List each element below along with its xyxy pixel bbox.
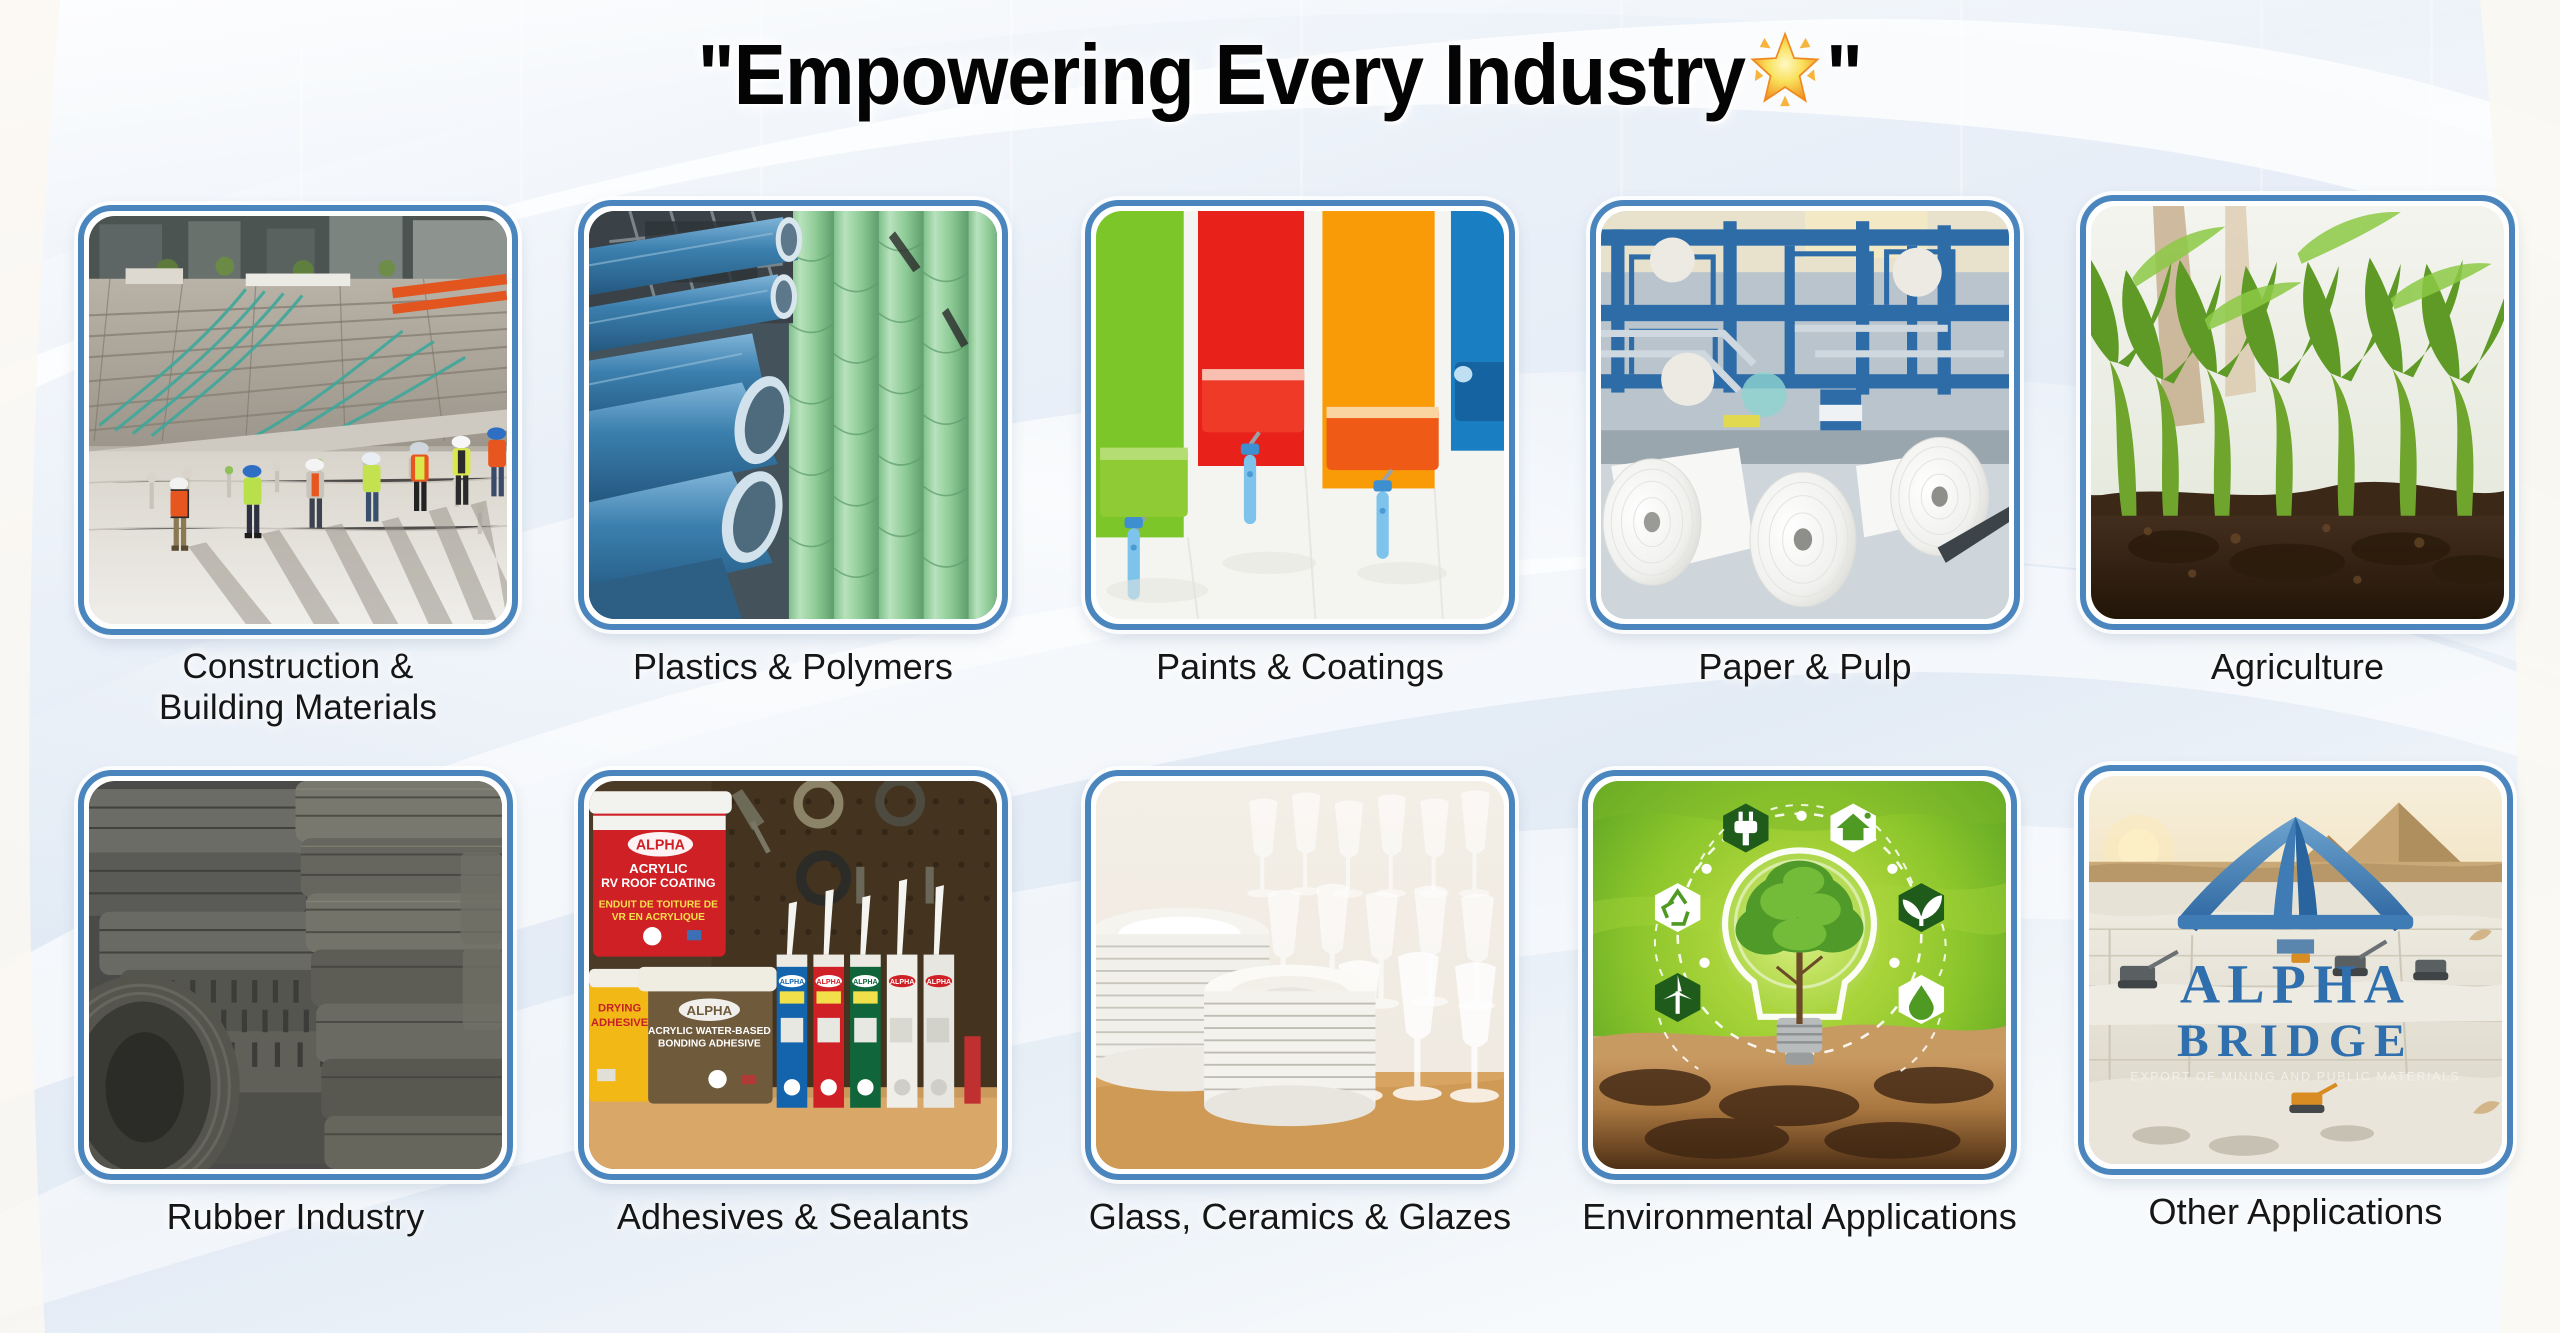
plates-and-wine-glasses-image — [1096, 781, 1504, 1169]
paint-rollers-color-stripes-image — [1096, 211, 1504, 619]
tile-caption-agriculture: Agriculture — [2211, 646, 2384, 688]
tile-frame-paper — [1590, 200, 2020, 630]
svg-text:ALPHA: ALPHA — [890, 978, 915, 986]
svg-text:ACRYLIC WATER-BASED: ACRYLIC WATER-BASED — [648, 1026, 771, 1037]
tile-caption-other: Other Applications — [2149, 1191, 2443, 1233]
tile-frame-paints — [1085, 200, 1515, 630]
tile-caption-paper: Paper & Pulp — [1698, 646, 1911, 688]
alpha-bridge-logo-line1: ALPHA — [2180, 954, 2411, 1015]
tile-rubber[interactable]: Rubber Industry — [78, 770, 513, 1238]
stacked-tires-image — [89, 781, 502, 1169]
glowing-star-icon — [1747, 26, 1824, 131]
tile-paper[interactable]: Paper & Pulp — [1590, 200, 2020, 688]
tile-frame-agriculture — [2080, 195, 2515, 630]
industry-grid: Construction & Building Materials — [0, 0, 2560, 1333]
construction-site-workers-rebar-image — [89, 216, 507, 624]
tile-plastics[interactable]: Plastics & Polymers — [578, 200, 1008, 688]
tile-environmental[interactable]: Environmental Applications — [1582, 770, 2017, 1238]
tile-frame-construction — [78, 205, 518, 635]
svg-text:ENDUIT DE TOITURE DE: ENDUIT DE TOITURE DE — [599, 900, 718, 911]
svg-text:ADHESIVE: ADHESIVE — [591, 1017, 649, 1029]
blue-and-green-plastic-pipes-image — [589, 211, 997, 619]
paper-mill-rolls-image — [1601, 211, 2009, 619]
tile-caption-environmental: Environmental Applications — [1582, 1196, 2017, 1238]
svg-text:ALPHA: ALPHA — [780, 978, 805, 986]
tile-other[interactable]: ALPHA BRIDGE EXPORT OF MINING AND PUBLIC… — [2078, 765, 2513, 1233]
svg-text:ALPHA: ALPHA — [636, 837, 685, 853]
page-title-container: "Empowering Every Industry" — [0, 26, 2560, 131]
svg-text:DRYING: DRYING — [598, 1003, 641, 1015]
tile-frame-rubber — [78, 770, 513, 1180]
svg-text:RV ROOF COATING: RV ROOF COATING — [601, 876, 715, 890]
tile-caption-construction: Construction & Building Materials — [159, 646, 437, 729]
svg-text:BONDING ADHESIVE: BONDING ADHESIVE — [658, 1038, 761, 1049]
alpha-bridge-quarry-logo-image: ALPHA BRIDGE EXPORT OF MINING AND PUBLIC… — [2089, 776, 2502, 1164]
page-title-text: "Empowering Every Industry — [698, 28, 1745, 123]
svg-text:ACRYLIC: ACRYLIC — [629, 861, 688, 876]
svg-text:ALPHA: ALPHA — [853, 978, 878, 986]
tile-caption-glass: Glass, Ceramics & Glazes — [1089, 1196, 1512, 1238]
tile-frame-environmental — [1582, 770, 2017, 1180]
page-title: "Empowering Every Industry" — [698, 26, 1863, 131]
tile-frame-other: ALPHA BRIDGE EXPORT OF MINING AND PUBLIC… — [2078, 765, 2513, 1175]
tile-glass[interactable]: Glass, Ceramics & Glazes — [1085, 770, 1515, 1238]
svg-text:ALPHA: ALPHA — [687, 1003, 733, 1018]
svg-text:ALPHA: ALPHA — [816, 978, 841, 986]
svg-text:VR EN ACRYLIQUE: VR EN ACRYLIQUE — [612, 912, 705, 923]
tile-adhesives[interactable]: ALPHA ACRYLIC RV ROOF COATING ENDUIT DE … — [578, 770, 1008, 1238]
corn-seedlings-in-soil-image — [2091, 206, 2504, 619]
tile-frame-glass — [1085, 770, 1515, 1180]
tile-agriculture[interactable]: Agriculture — [2080, 195, 2515, 688]
tile-caption-paints: Paints & Coatings — [1156, 646, 1444, 688]
tile-caption-adhesives: Adhesives & Sealants — [617, 1196, 969, 1238]
tile-construction[interactable]: Construction & Building Materials — [78, 205, 518, 729]
tile-caption-plastics: Plastics & Polymers — [633, 646, 953, 688]
page-title-quote-close: " — [1826, 28, 1862, 123]
tile-frame-adhesives: ALPHA ACRYLIC RV ROOF COATING ENDUIT DE … — [578, 770, 1008, 1180]
alpha-bridge-tagline: EXPORT OF MINING AND PUBLIC MATERIALS — [2130, 1069, 2460, 1083]
alpha-bridge-logo-line2: BRIDGE — [2177, 1015, 2414, 1067]
svg-text:ALPHA: ALPHA — [927, 978, 952, 986]
green-energy-lightbulb-tree-image — [1593, 781, 2006, 1169]
tile-frame-plastics — [578, 200, 1008, 630]
alpha-sealant-products-image: ALPHA ACRYLIC RV ROOF COATING ENDUIT DE … — [589, 781, 997, 1169]
tile-paints[interactable]: Paints & Coatings — [1085, 200, 1515, 688]
tile-caption-rubber: Rubber Industry — [167, 1196, 425, 1238]
